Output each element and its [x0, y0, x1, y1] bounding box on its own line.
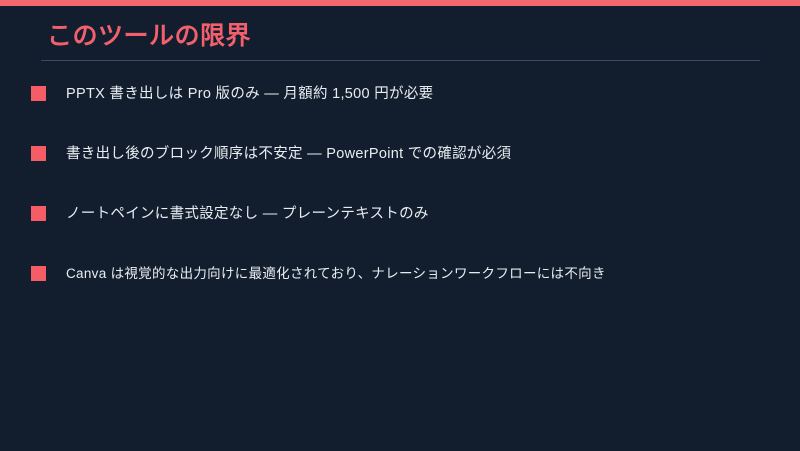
- list-item-label: Canva は視覚的な出力向けに最適化されており、ナレーションワークフローには不…: [66, 260, 606, 288]
- page-title: このツールの限界: [47, 20, 251, 52]
- square-bullet-icon: [31, 146, 46, 161]
- top-accent-bar: [0, 0, 800, 6]
- bullet-list: PPTX 書き出しは Pro 版のみ — 月額約 1,500 円が必要 書き出し…: [0, 80, 800, 320]
- square-bullet-icon: [31, 86, 46, 101]
- list-item: Canva は視覚的な出力向けに最適化されており、ナレーションワークフローには不…: [0, 260, 800, 320]
- list-item-label: PPTX 書き出しは Pro 版のみ — 月額約 1,500 円が必要: [66, 80, 433, 108]
- list-item: ノートペインに書式設定なし — プレーンテキストのみ: [0, 200, 800, 260]
- title-divider: [41, 60, 760, 61]
- square-bullet-icon: [31, 266, 46, 281]
- list-item-label: 書き出し後のブロック順序は不安定 — PowerPoint での確認が必須: [66, 140, 511, 168]
- list-item: 書き出し後のブロック順序は不安定 — PowerPoint での確認が必須: [0, 140, 800, 200]
- list-item: PPTX 書き出しは Pro 版のみ — 月額約 1,500 円が必要: [0, 80, 800, 140]
- list-item-label: ノートペインに書式設定なし — プレーンテキストのみ: [66, 200, 429, 228]
- square-bullet-icon: [31, 206, 46, 221]
- slide-canvas: このツールの限界 PPTX 書き出しは Pro 版のみ — 月額約 1,500 …: [0, 0, 800, 451]
